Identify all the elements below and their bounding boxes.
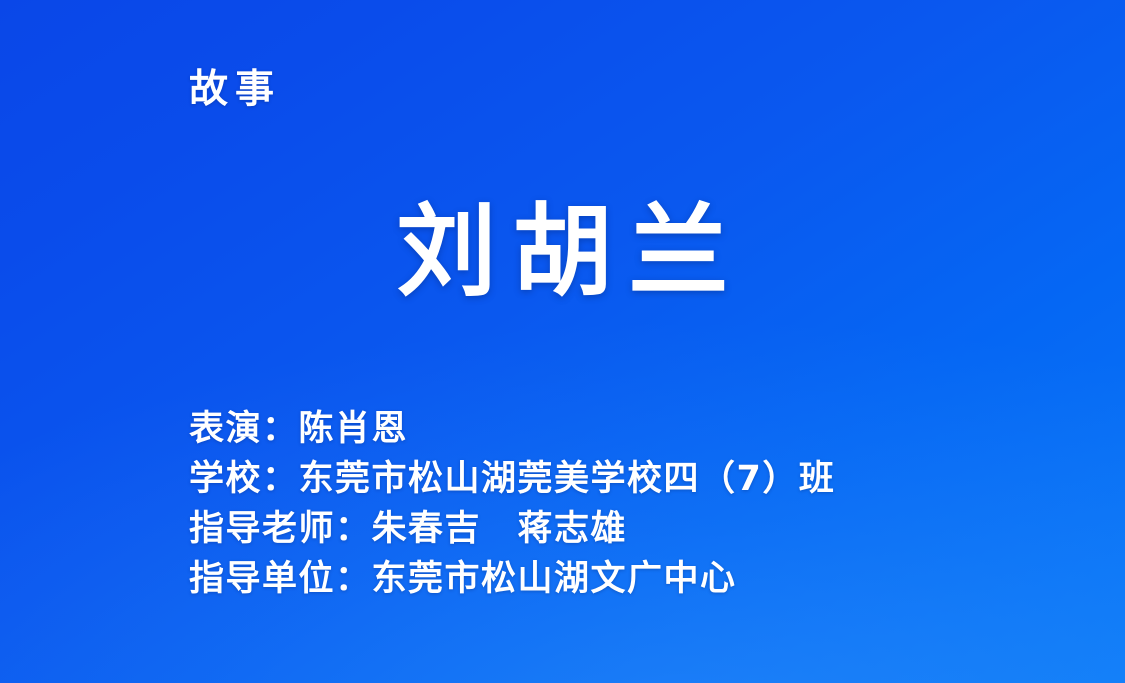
category-label: 故事 [189,68,281,113]
slide-content: 故事 刘胡兰 表演：陈肖恩 学校：东莞市松山湖莞美学校四（7）班 指导老师：朱春… [0,0,1125,683]
credit-school: 学校：东莞市松山湖莞美学校四（7）班 [189,454,835,504]
title-slide: 故事 刘胡兰 表演：陈肖恩 学校：东莞市松山湖莞美学校四（7）班 指导老师：朱春… [0,0,1125,683]
page-title: 刘胡兰 [0,196,1125,308]
credit-performer: 表演：陈肖恩 [189,404,835,454]
credit-instructing-organization: 指导单位：东莞市松山湖文广中心 [189,554,835,604]
credit-instructing-teachers: 指导老师：朱春吉 蒋志雄 [189,504,835,554]
credits-block: 表演：陈肖恩 学校：东莞市松山湖莞美学校四（7）班 指导老师：朱春吉 蒋志雄 指… [189,404,835,604]
